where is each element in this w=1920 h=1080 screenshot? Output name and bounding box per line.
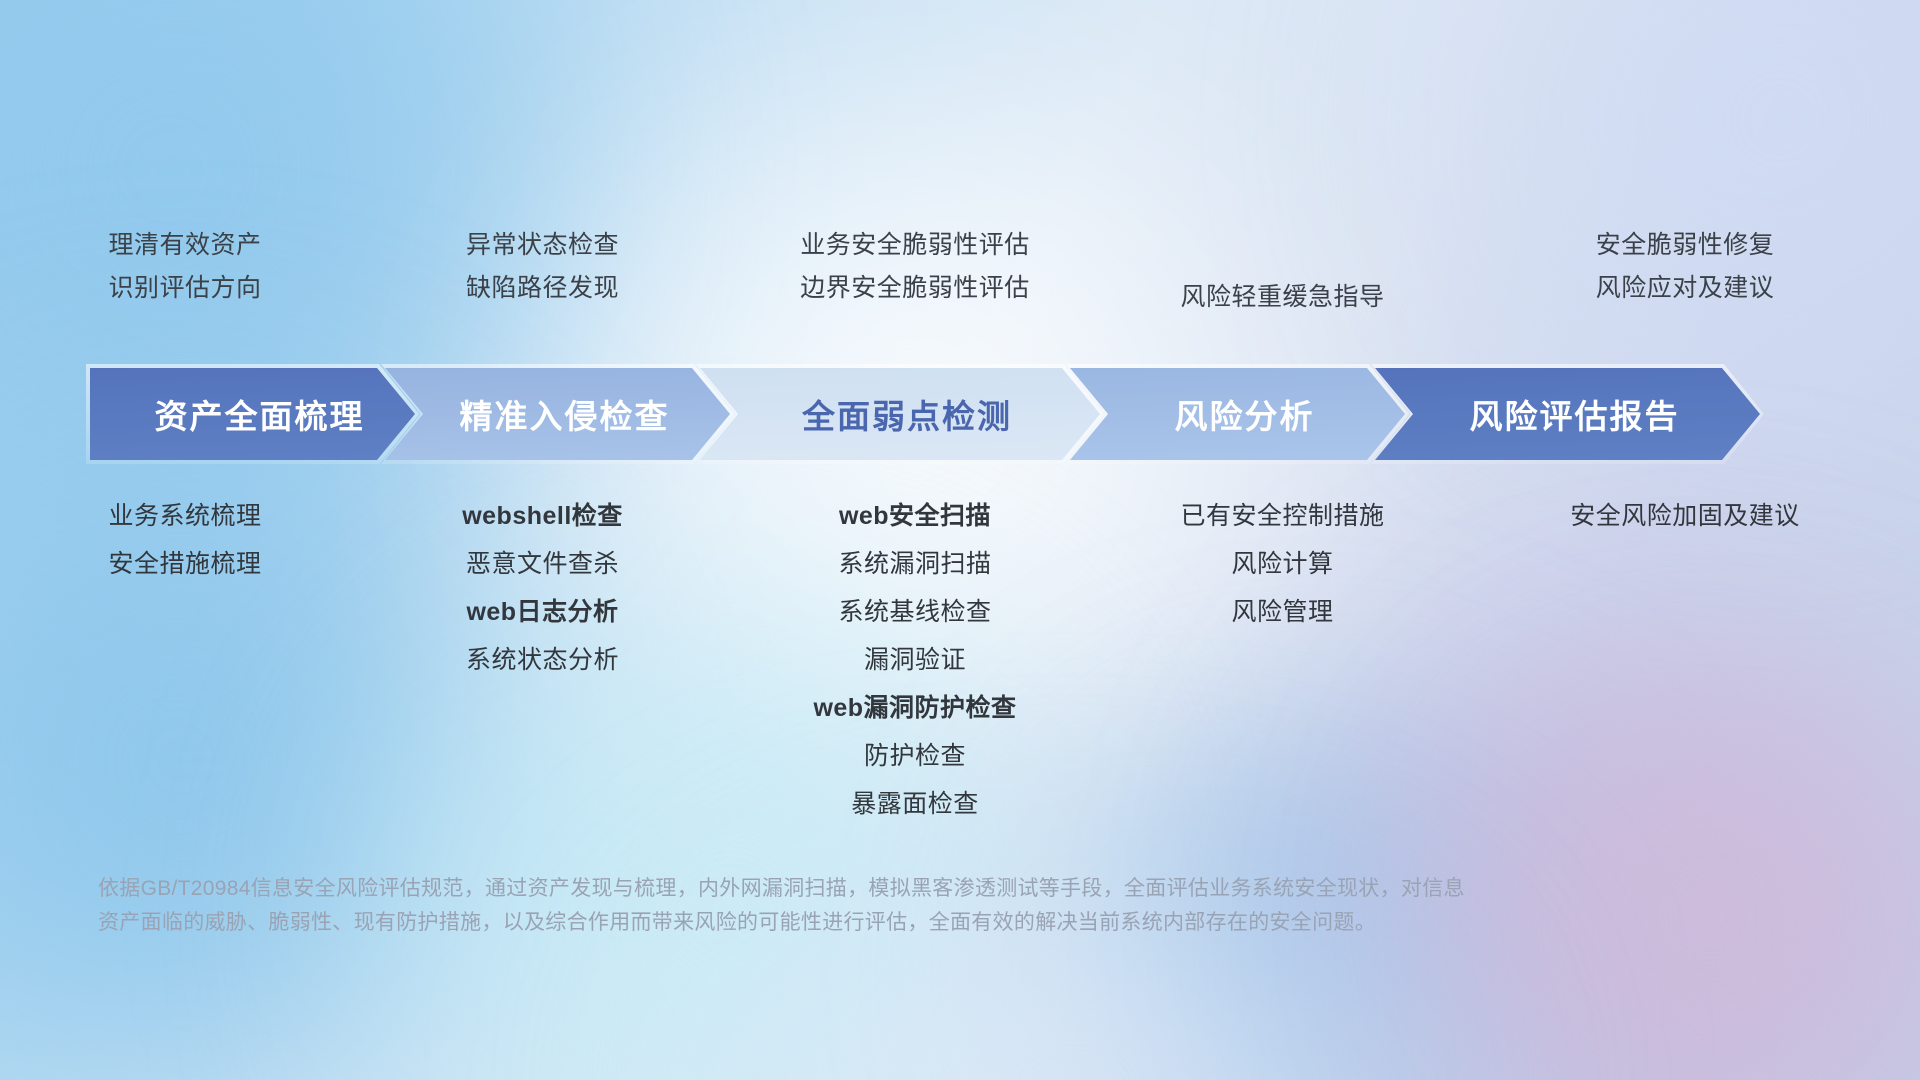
process-arrow-asset-inventory[interactable]: 资产全面梳理 [90,368,415,460]
top-labels-risk-assessment-report: 安全脆弱性修复风险应对及建议 [1450,230,1920,340]
detail-item: 系统基线检查 [838,596,991,628]
arrow-label: 资产全面梳理 [141,390,365,438]
top-labels-risk-analysis: 风险轻重缓急指导 [1115,230,1450,340]
footer-description: 依据GB/T20984信息安全风险评估规范，通过资产发现与梳理，内外网漏洞扫描，… [98,872,1738,940]
process-arrow-full-weakness-detection[interactable]: 全面弱点检测 [700,368,1100,460]
top-label: 安全脆弱性修复 [1596,230,1775,261]
arrow-label: 风险分析 [1161,390,1315,438]
arrow-label: 全面弱点检测 [788,390,1012,438]
top-label: 识别评估方向 [108,273,261,304]
footer-line-2: 资产面临的威胁、脆弱性、现有防护措施，以及综合作用而带来风险的可能性进行评估，全… [98,906,1738,940]
detail-item: webshell检查 [462,500,623,532]
stage-detail-lists-row: 业务系统梳理安全措施梳理webshell检查恶意文件查杀web日志分析系统状态分… [0,500,1920,820]
detail-item: 风险管理 [1231,596,1333,628]
detail-list-asset-inventory: 业务系统梳理安全措施梳理 [0,500,370,820]
detail-item: web日志分析 [466,596,618,628]
detail-list-risk-analysis: 已有安全控制措施风险计算风险管理 [1115,500,1450,820]
top-label: 业务安全脆弱性评估 [800,230,1030,261]
detail-item: 已有安全控制措施 [1180,500,1384,532]
detail-item: 系统漏洞扫描 [838,548,991,580]
detail-item: 防护检查 [864,740,966,772]
top-label: 风险轻重缓急指导 [1180,282,1384,313]
process-arrow-risk-analysis[interactable]: 风险分析 [1070,368,1405,460]
detail-item: 安全风险加固及建议 [1570,500,1800,532]
top-label: 边界安全脆弱性评估 [800,273,1030,304]
top-label: 风险应对及建议 [1596,273,1775,304]
detail-list-full-weakness-detection: web安全扫描系统漏洞扫描系统基线检查漏洞验证web漏洞防护检查防护检查暴露面检… [715,500,1115,820]
footer-line-1: 依据GB/T20984信息安全风险评估规范，通过资产发现与梳理，内外网漏洞扫描，… [98,872,1738,906]
top-label: 异常状态检查 [466,230,619,261]
top-labels-asset-inventory: 理清有效资产识别评估方向 [0,230,370,340]
process-arrow-risk-assessment-report[interactable]: 风险评估报告 [1375,368,1760,460]
detail-item: web漏洞防护检查 [813,692,1016,724]
arrow-label: 风险评估报告 [1456,390,1680,438]
detail-item: 漏洞验证 [864,644,966,676]
arrow-label: 精准入侵检查 [446,390,670,438]
stage-top-labels-row: 理清有效资产识别评估方向异常状态检查缺陷路径发现业务安全脆弱性评估边界安全脆弱性… [0,230,1920,340]
detail-item: 恶意文件查杀 [466,548,619,580]
detail-item: 系统状态分析 [466,644,619,676]
detail-item: 业务系统梳理 [108,500,261,532]
top-labels-full-weakness-detection: 业务安全脆弱性评估边界安全脆弱性评估 [715,230,1115,340]
detail-list-risk-assessment-report: 安全风险加固及建议 [1450,500,1920,820]
detail-list-precise-intrusion-check: webshell检查恶意文件查杀web日志分析系统状态分析 [370,500,715,820]
process-arrow-band: 资产全面梳理精准入侵检查全面弱点检测风险分析风险评估报告 [90,368,1850,460]
top-label: 缺陷路径发现 [466,273,619,304]
detail-item: web安全扫描 [839,500,991,532]
top-label: 理清有效资产 [108,230,261,261]
top-labels-precise-intrusion-check: 异常状态检查缺陷路径发现 [370,230,715,340]
detail-item: 暴露面检查 [851,788,979,820]
detail-item: 风险计算 [1231,548,1333,580]
process-arrow-precise-intrusion-check[interactable]: 精准入侵检查 [385,368,730,460]
detail-item: 安全措施梳理 [108,548,261,580]
